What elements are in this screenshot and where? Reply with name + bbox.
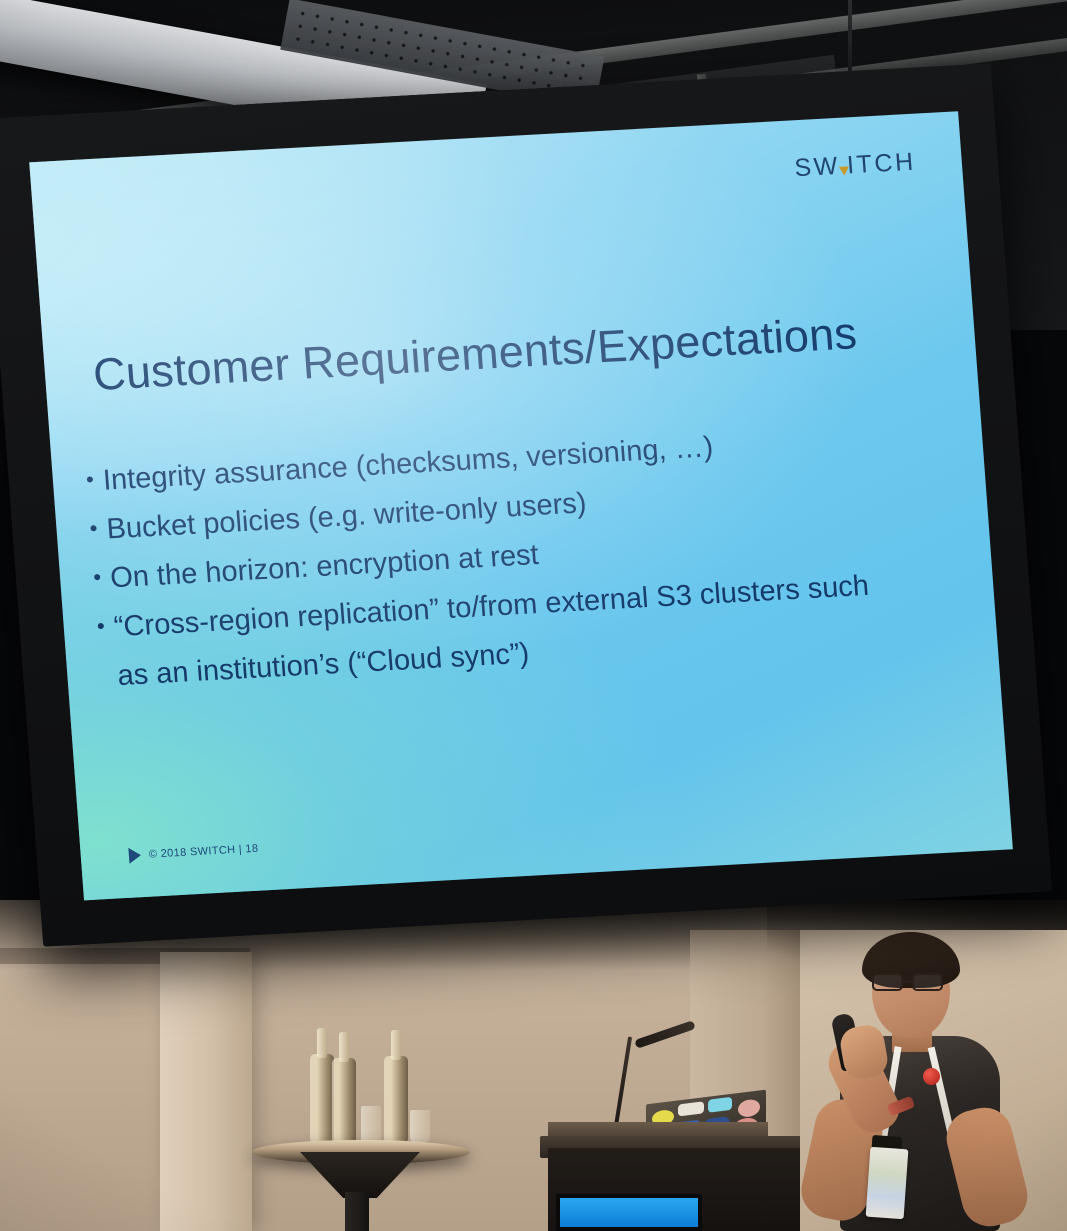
slide-title: Customer Requirements/Expectations xyxy=(91,307,858,401)
slide-footer-text: © 2018 SWITCH | 18 xyxy=(148,843,258,861)
presenter xyxy=(800,930,1067,1231)
confidence-monitor xyxy=(556,1194,702,1231)
conference-photo: SWITCH Customer Requirements/Expectation… xyxy=(0,0,1067,1231)
switch-logo: SWITCH xyxy=(794,148,917,184)
wall-pillar-left xyxy=(160,952,252,1231)
bullet-dot-icon xyxy=(94,574,100,580)
switch-logo-s: SW xyxy=(794,152,842,183)
eyeglasses-icon xyxy=(870,973,954,991)
table-bottles xyxy=(306,1050,426,1142)
switch-logo-itch: ITCH xyxy=(846,148,917,181)
slide-footer: © 2018 SWITCH | 18 xyxy=(128,841,259,864)
badge-pin xyxy=(923,1068,940,1085)
chevron-right-icon xyxy=(128,847,141,864)
bottle xyxy=(384,1056,408,1142)
bullet-dot-icon xyxy=(90,525,96,531)
drinking-glass xyxy=(410,1110,430,1142)
high-table-stem xyxy=(345,1192,369,1231)
bottle xyxy=(310,1054,334,1142)
bottle xyxy=(332,1058,356,1142)
bullet-dot-icon xyxy=(98,623,104,629)
drinking-glass xyxy=(361,1106,381,1142)
conference-badge xyxy=(866,1147,909,1219)
projection-screen-area: SWITCH Customer Requirements/Expectation… xyxy=(0,50,1057,950)
bullet-dot-icon xyxy=(87,476,93,482)
projection-screen-frame: SWITCH Customer Requirements/Expectation… xyxy=(0,63,1052,946)
slide-bullet-list: Integrity assurance (checksums, versioni… xyxy=(85,412,978,705)
slide-surface: SWITCH Customer Requirements/Expectation… xyxy=(29,111,1013,900)
